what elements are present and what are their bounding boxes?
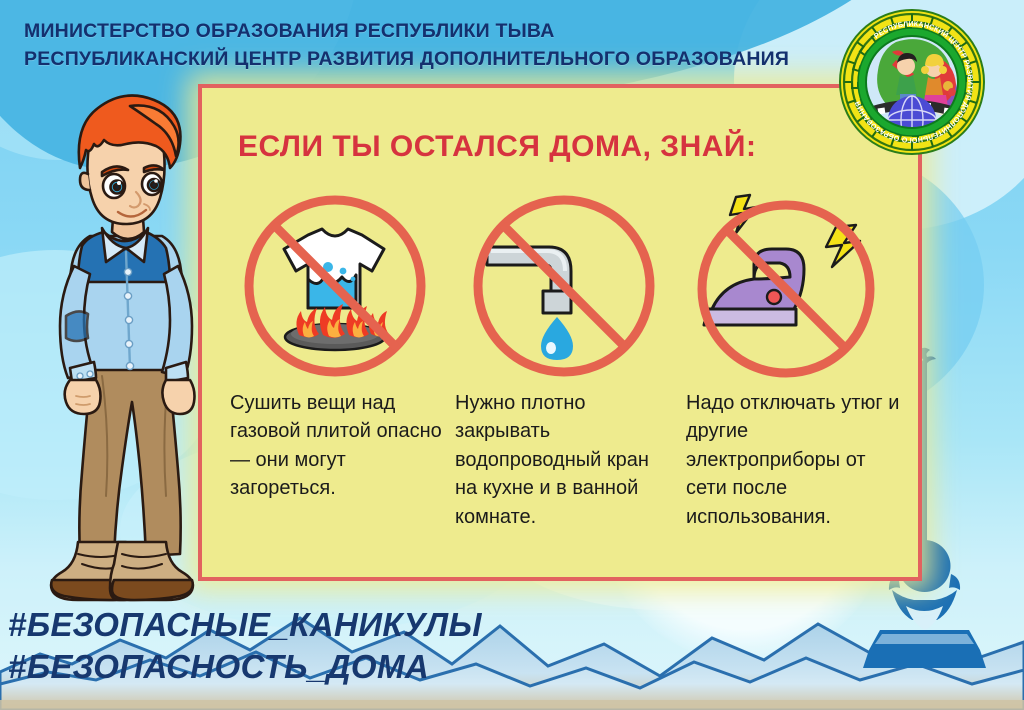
tip-item: Нужно плотно закрывать водопроводный кра… (455, 193, 673, 563)
rcrdo-emblem-logo: РЕСПУБЛИКАНСКИЙ ЦЕНТР РАЗВИТИЯ ДОПОЛНИТЕ… (838, 8, 986, 156)
content-panel: ЕСЛИ ТЫ ОСТАЛСЯ ДОМА, ЗНАЙ: (198, 84, 922, 581)
header-line-ministry: МИНИСТЕРСТВО ОБРАЗОВАНИЯ РЕСПУБЛИКИ ТЫВА (24, 18, 789, 46)
tip-text: Надо отключать утюг и другие электроприб… (684, 389, 902, 531)
poster-root: МИНИСТЕРСТВО ОБРАЗОВАНИЯ РЕСПУБЛИКИ ТЫВА… (0, 0, 1024, 710)
no-dripping-faucet-icon (471, 193, 657, 379)
no-iron-plugged-in-icon (700, 193, 886, 379)
hashtags-block: #БЕЗОПАСНЫЕ_КАНИКУЛЫ #БЕЗОПАСНОСТЬ_ДОМА (8, 604, 482, 688)
no-iron-column: Надо отключать утюг и другие электроприб… (684, 193, 902, 563)
hashtag-safe-holidays: #БЕЗОПАСНЫЕ_КАНИКУЛЫ (8, 604, 482, 646)
tip-text: Нужно плотно закрывать водопроводный кра… (455, 389, 673, 531)
cartoon-boy-character (18, 76, 270, 606)
hashtag-home-safety: #БЕЗОПАСНОСТЬ_ДОМА (8, 646, 482, 688)
tips-row: Сушить вещи над газовой плитой опасно — … (226, 193, 902, 563)
organization-header: МИНИСТЕРСТВО ОБРАЗОВАНИЯ РЕСПУБЛИКИ ТЫВА… (24, 18, 789, 73)
header-line-center: РЕСПУБЛИКАНСКИЙ ЦЕНТР РАЗВИТИЯ ДОПОЛНИТЕ… (24, 46, 789, 74)
panel-title: ЕСЛИ ТЫ ОСТАЛСЯ ДОМА, ЗНАЙ: (238, 130, 756, 164)
